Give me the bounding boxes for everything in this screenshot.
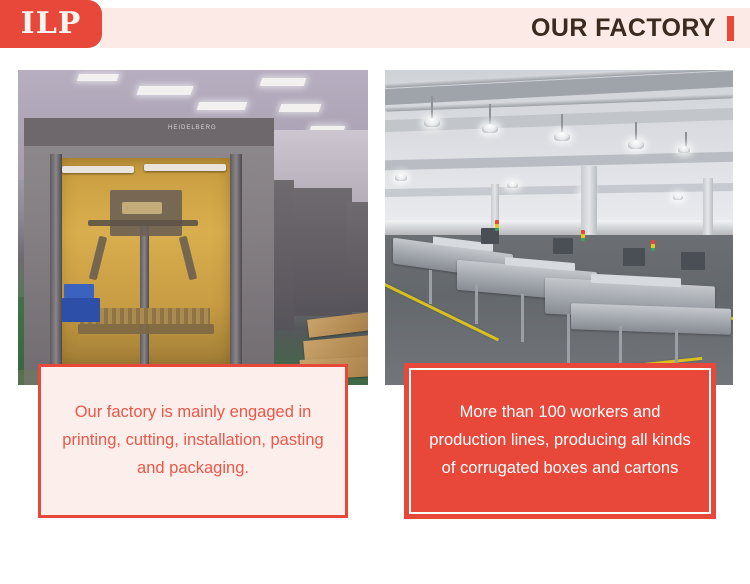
machine-leg [475, 284, 478, 324]
machine-leg [567, 314, 570, 366]
pendant-stem [489, 104, 491, 126]
production-line-machine [571, 303, 731, 335]
pendant-light-icon [507, 182, 518, 188]
pendant-light-icon [673, 194, 683, 200]
press-roller [62, 166, 134, 173]
title-accent-bar-icon [727, 16, 734, 41]
ceiling-light-icon [260, 78, 307, 86]
production-line-photo [385, 70, 733, 385]
status-tower-light-icon [651, 240, 655, 251]
status-tower-light-icon [495, 220, 499, 231]
pendant-light-icon [678, 146, 690, 153]
machine-control-panel [553, 238, 573, 254]
ceiling-light-icon [77, 74, 119, 81]
aisle-machine [272, 180, 294, 330]
pendant-stem [635, 122, 637, 142]
machine-leg [521, 294, 524, 342]
press-frame-post [230, 154, 242, 384]
pendant-light-icon [424, 118, 440, 127]
pallet [78, 324, 214, 334]
caption-text-left: Our factory is mainly engaged in printin… [41, 399, 345, 482]
page-title: OUR FACTORY [531, 16, 716, 41]
caption-box-right: More than 100 workers and production lin… [404, 363, 716, 519]
printing-press-photo: HEIDELBERG [18, 70, 368, 385]
caption-text-right: More than 100 workers and production lin… [411, 399, 709, 482]
pendant-stem [561, 114, 563, 134]
pendant-stem [431, 96, 433, 120]
press-control-plate [122, 202, 162, 214]
factory-photo-right [385, 70, 733, 385]
pendant-light-icon [395, 174, 407, 181]
aisle-machine [294, 188, 352, 316]
machine-control-panel [681, 252, 705, 270]
pendant-light-icon [554, 132, 570, 141]
ceiling-light-icon [279, 104, 322, 112]
pendant-light-icon [482, 124, 498, 133]
press-mechanism [88, 220, 198, 226]
factory-photo-left: HEIDELBERG [18, 70, 368, 385]
press-frame-post [50, 154, 62, 384]
brand-logo-text: ILP [21, 9, 82, 39]
caption-box-left: Our factory is mainly engaged in printin… [38, 364, 348, 518]
blue-bin [64, 284, 94, 298]
ceiling-light-icon [197, 102, 248, 110]
press-roller [144, 164, 226, 171]
caption-inner-border: More than 100 workers and production lin… [409, 368, 711, 514]
press-brand-label: HEIDELBERG [168, 125, 217, 131]
page-header: ILP OUR FACTORY [0, 0, 750, 50]
machine-leg [429, 270, 432, 304]
aisle-machine [346, 202, 368, 312]
status-tower-light-icon [581, 230, 585, 241]
ceiling-light-icon [137, 86, 194, 95]
pendant-light-icon [628, 140, 644, 149]
brand-logo[interactable]: ILP [0, 0, 102, 48]
blue-bin [62, 298, 100, 322]
press-frame-post [140, 220, 149, 384]
machine-control-panel [623, 248, 645, 266]
printing-press-top-panel [24, 118, 274, 146]
header-title-group: OUR FACTORY [531, 8, 734, 48]
